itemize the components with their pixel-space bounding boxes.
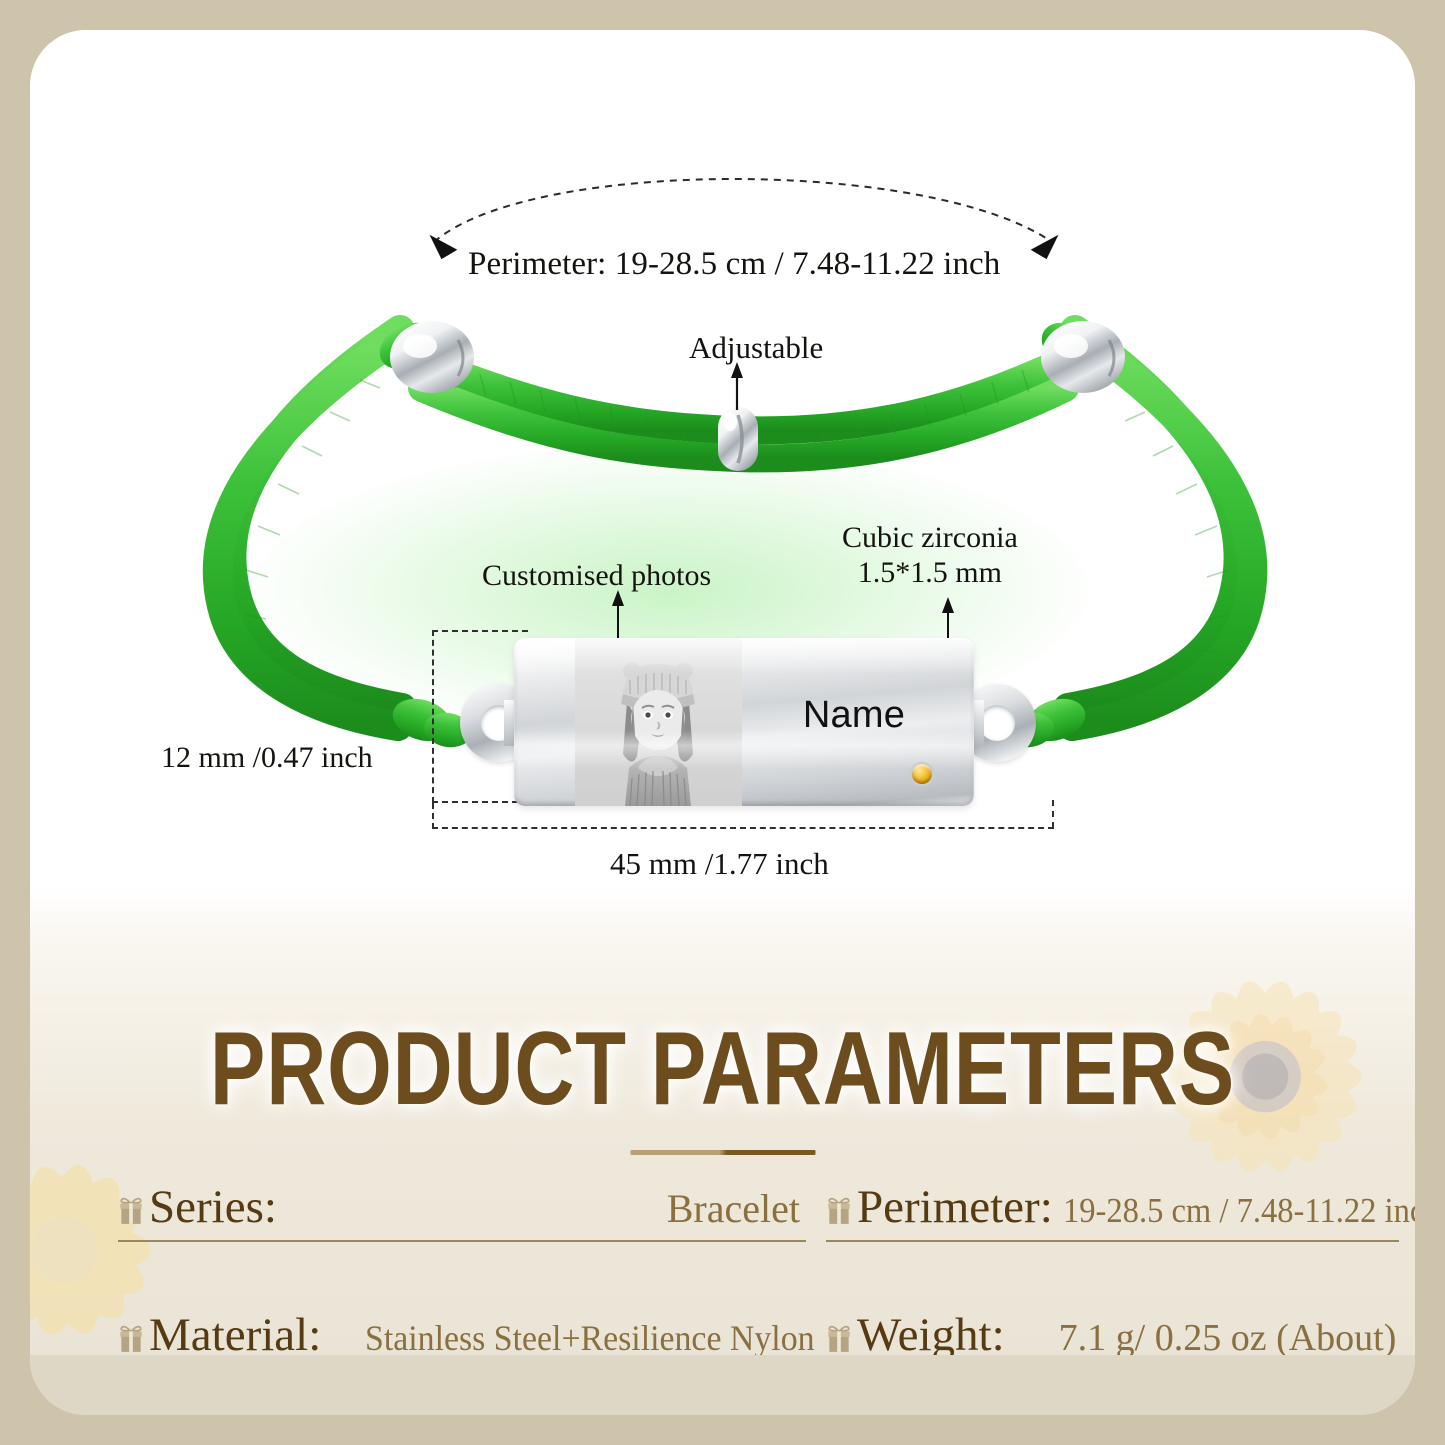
perimeter-arrow bbox=[434, 179, 1052, 242]
child-portrait-icon bbox=[575, 638, 742, 806]
callout-cubic-zirconia: Cubic zirconia 1.5*1.5 mm bbox=[842, 520, 1018, 591]
gift-icon bbox=[118, 1196, 144, 1226]
parameter-label: Perimeter: bbox=[857, 1180, 1053, 1234]
product-parameters-section: PRODUCT PARAMETERS bbox=[30, 885, 1415, 1415]
product-card: Name Perimeter: 19-28.5 cm / 7.48-11.22 … bbox=[30, 30, 1415, 1415]
gift-icon bbox=[826, 1196, 852, 1226]
callout-cubic-zirconia-line1: Cubic zirconia bbox=[842, 520, 1018, 555]
parameter-value: Stainless Steel+Resilience Nylon bbox=[365, 1317, 815, 1359]
footer-strip bbox=[30, 1355, 1415, 1415]
adjustable-slider-bead bbox=[718, 407, 758, 471]
callout-adjustable: Adjustable bbox=[689, 330, 823, 367]
parameter-underline bbox=[826, 1240, 1399, 1242]
parameter-label: Weight: bbox=[857, 1308, 1005, 1362]
page-frame: Name Perimeter: 19-28.5 cm / 7.48-11.22 … bbox=[0, 0, 1445, 1445]
product-hero: Name Perimeter: 19-28.5 cm / 7.48-11.22 … bbox=[30, 30, 1415, 885]
callout-width-measure: 45 mm /1.77 inch bbox=[610, 846, 829, 883]
width-guide-line bbox=[432, 827, 1054, 829]
parameter-value: 7.1 g/ 0.25 oz (About) bbox=[1059, 1316, 1397, 1360]
page-title: PRODUCT PARAMETERS bbox=[169, 1010, 1277, 1129]
callout-perimeter: Perimeter: 19-28.5 cm / 7.48-11.22 inch bbox=[468, 245, 1000, 284]
parameter-label: Series: bbox=[149, 1180, 277, 1234]
callout-cubic-zirconia-line2: 1.5*1.5 mm bbox=[842, 555, 1018, 590]
parameter-cell-series: Series: Bracelet bbox=[118, 1180, 818, 1246]
perimeter-arrow-left-head bbox=[426, 235, 459, 262]
parameter-value: Bracelet bbox=[667, 1185, 818, 1232]
customised-photo bbox=[575, 638, 742, 806]
callout-customised-photos: Customised photos bbox=[482, 558, 711, 593]
gift-icon bbox=[118, 1324, 144, 1354]
perimeter-arrow-right-head bbox=[1029, 235, 1062, 262]
engraved-plate: Name bbox=[514, 638, 974, 806]
parameter-row: Series: Bracelet bbox=[30, 1180, 1415, 1246]
right-slider-bead bbox=[1041, 321, 1125, 393]
left-slider-bead bbox=[390, 321, 474, 393]
engraved-name-text: Name bbox=[759, 694, 949, 737]
parameters-grid: Series: Bracelet bbox=[30, 1180, 1415, 1374]
title-divider bbox=[630, 1150, 815, 1155]
parameter-cell-perimeter: Perimeter: 19-28.5 cm / 7.48-11.22 inch bbox=[826, 1180, 1411, 1246]
parameter-underline bbox=[118, 1240, 806, 1242]
parameter-label: Material: bbox=[149, 1308, 321, 1362]
gift-icon bbox=[826, 1324, 852, 1354]
cubic-zirconia-stone bbox=[912, 764, 932, 784]
parameter-value: 19-28.5 cm / 7.48-11.22 inch bbox=[1063, 1191, 1415, 1231]
pendant-plate-group: Name bbox=[430, 630, 1090, 820]
callout-height-measure: 12 mm /0.47 inch bbox=[161, 740, 373, 775]
